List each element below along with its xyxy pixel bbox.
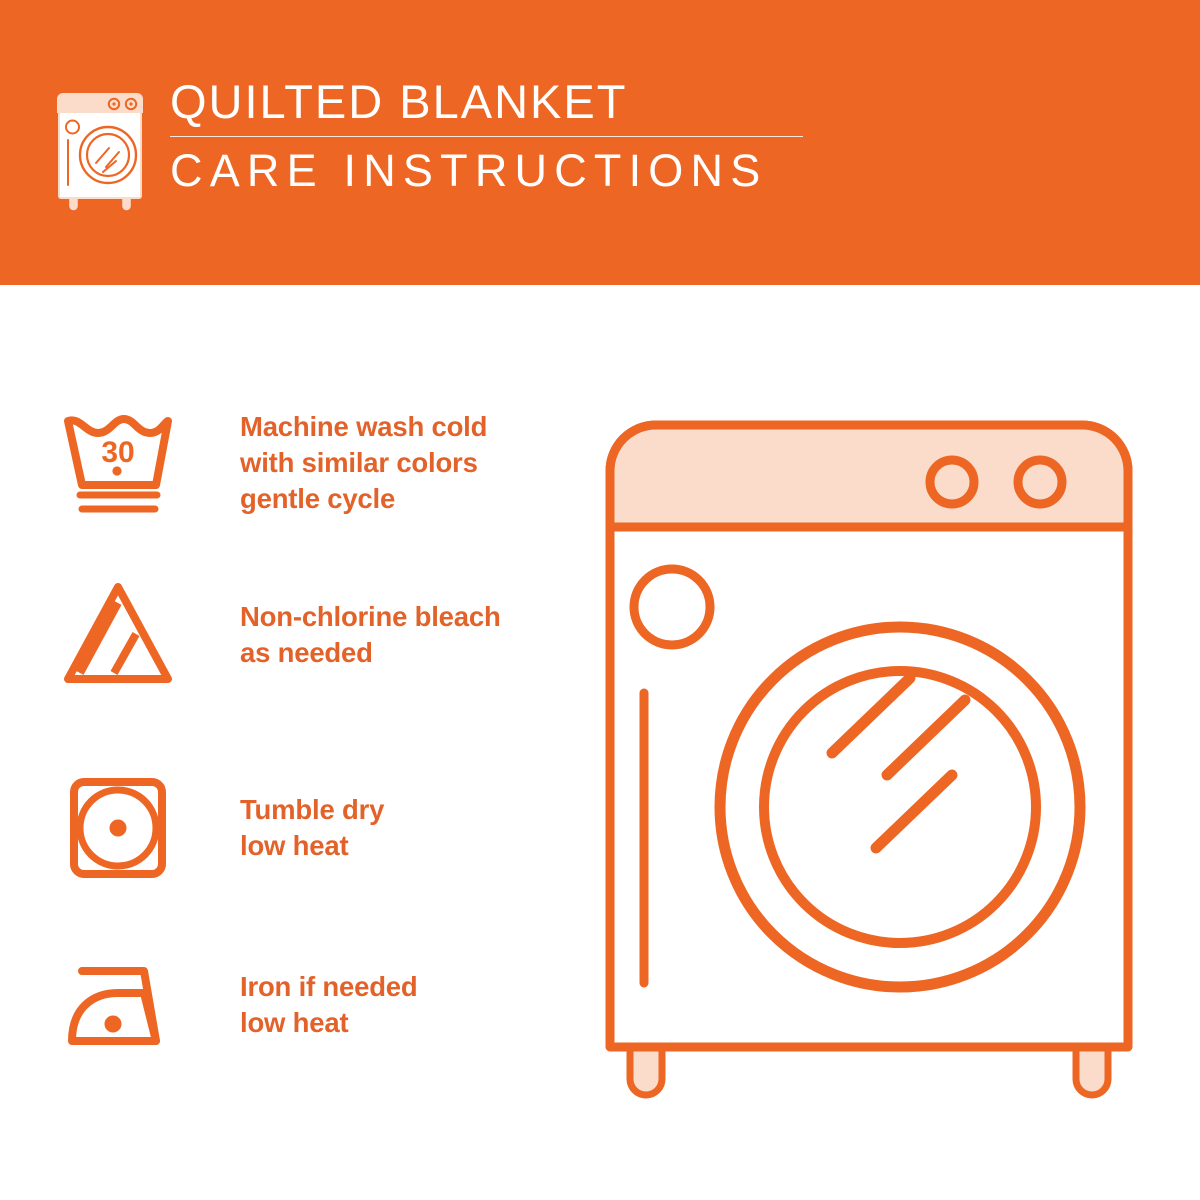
care-line: as needed [240, 635, 501, 671]
care-line: low heat [240, 828, 384, 864]
care-line: low heat [240, 1005, 418, 1041]
header-content: QUILTED BLANKET CARE INSTRUCTIONS [52, 78, 803, 214]
care-line: Iron if needed [240, 969, 418, 1005]
wash-tub-30-gentle-icon: 30 [58, 403, 188, 523]
machine-knob-1 [930, 460, 974, 504]
machine-door-inner [764, 671, 1036, 943]
machine-knob-2 [1018, 460, 1062, 504]
care-item-bleach: Non-chlorine bleach as needed [58, 575, 578, 695]
washing-machine-icon [52, 82, 148, 214]
care-item-machine-wash: 30 Machine wash cold with similar colors… [58, 403, 578, 523]
wash-temperature-value: 30 [101, 436, 134, 469]
care-line: with similar colors [240, 445, 487, 481]
care-item-label: Tumble dry low heat [240, 792, 384, 865]
front-load-washing-machine-illustration [600, 395, 1170, 1115]
care-item-iron: Iron if needed low heat [58, 945, 578, 1065]
care-line: Tumble dry [240, 792, 384, 828]
care-item-tumble-dry: Tumble dry low heat [58, 768, 578, 888]
care-line: Non-chlorine bleach [240, 599, 501, 635]
care-item-label: Non-chlorine bleach as needed [240, 599, 501, 672]
care-line: gentle cycle [240, 481, 487, 517]
non-chlorine-bleach-triangle-icon [58, 575, 188, 695]
page-title: QUILTED BLANKET [170, 78, 803, 126]
main-content: 30 Machine wash cold with similar colors… [0, 285, 1200, 1200]
tumble-dry-low-heat-icon [58, 768, 188, 888]
machine-dispenser-icon [634, 569, 710, 645]
page-header: QUILTED BLANKET CARE INSTRUCTIONS [0, 0, 1200, 285]
page-subtitle: CARE INSTRUCTIONS [170, 148, 803, 194]
iron-low-heat-icon [58, 945, 188, 1065]
care-line: Machine wash cold [240, 409, 487, 445]
header-title-block: QUILTED BLANKET CARE INSTRUCTIONS [170, 78, 803, 194]
care-item-label: Machine wash cold with similar colors ge… [240, 409, 487, 518]
care-item-label: Iron if needed low heat [240, 969, 418, 1042]
title-divider [170, 136, 803, 138]
care-instruction-list: 30 Machine wash cold with similar colors… [0, 285, 580, 1200]
